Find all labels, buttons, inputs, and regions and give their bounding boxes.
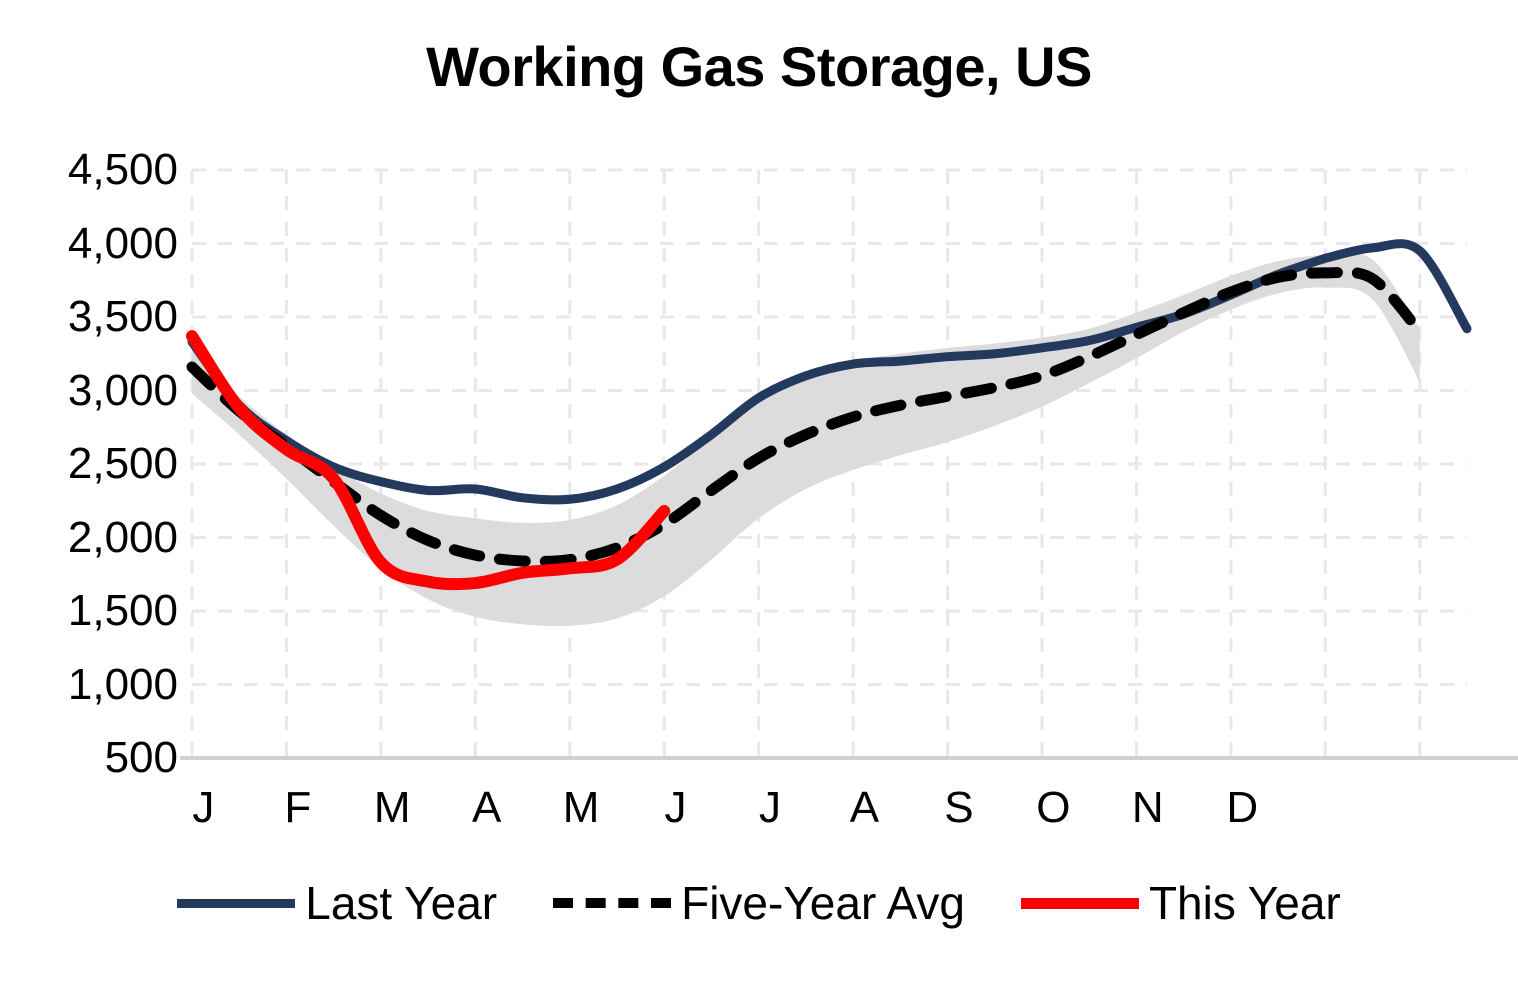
legend-label: This Year xyxy=(1149,880,1341,926)
x-axis-tick-label: D xyxy=(1212,786,1272,830)
legend-label: Last Year xyxy=(305,880,497,926)
x-axis-tick-label: A xyxy=(457,786,517,830)
x-axis-tick-label: O xyxy=(1023,786,1083,830)
chart-legend: Last YearFive-Year AvgThis Year xyxy=(0,872,1518,934)
x-axis-tick-label: A xyxy=(834,786,894,830)
legend-label: Five-Year Avg xyxy=(681,880,965,926)
y-axis-tick-label: 1,000 xyxy=(8,663,178,707)
y-axis-tick-label: 3,000 xyxy=(8,369,178,413)
y-axis-tick-label: 3,500 xyxy=(8,295,178,339)
x-axis-tick-label: N xyxy=(1118,786,1178,830)
x-axis-tick-label: J xyxy=(173,786,233,830)
x-axis-tick-label: F xyxy=(268,786,328,830)
x-axis-tick-label: J xyxy=(740,786,800,830)
y-axis-tick-label: 2,000 xyxy=(8,516,178,560)
legend-swatch-solid-line-icon xyxy=(1021,898,1139,909)
x-axis: JFMAMJJASOND xyxy=(0,786,1518,846)
legend-item[interactable]: Five-Year Avg xyxy=(553,880,965,926)
y-axis-tick-label: 2,500 xyxy=(8,442,178,486)
legend-swatch-solid-line-icon xyxy=(177,899,295,908)
x-axis-tick-label: S xyxy=(929,786,989,830)
legend-swatch-dashed-line-icon xyxy=(553,898,671,908)
y-axis-tick-label: 500 xyxy=(8,736,178,780)
legend-item[interactable]: This Year xyxy=(1021,880,1341,926)
x-axis-tick-label: M xyxy=(362,786,422,830)
chart-container: Working Gas Storage, US 5001,0001,5002,0… xyxy=(0,0,1518,989)
y-axis-tick-label: 4,000 xyxy=(8,222,178,266)
y-axis-tick-label: 1,500 xyxy=(8,589,178,633)
y-axis-tick-label: 4,500 xyxy=(8,148,178,192)
x-axis-tick-label: M xyxy=(551,786,611,830)
legend-item[interactable]: Last Year xyxy=(177,880,497,926)
x-axis-tick-label: J xyxy=(646,786,706,830)
